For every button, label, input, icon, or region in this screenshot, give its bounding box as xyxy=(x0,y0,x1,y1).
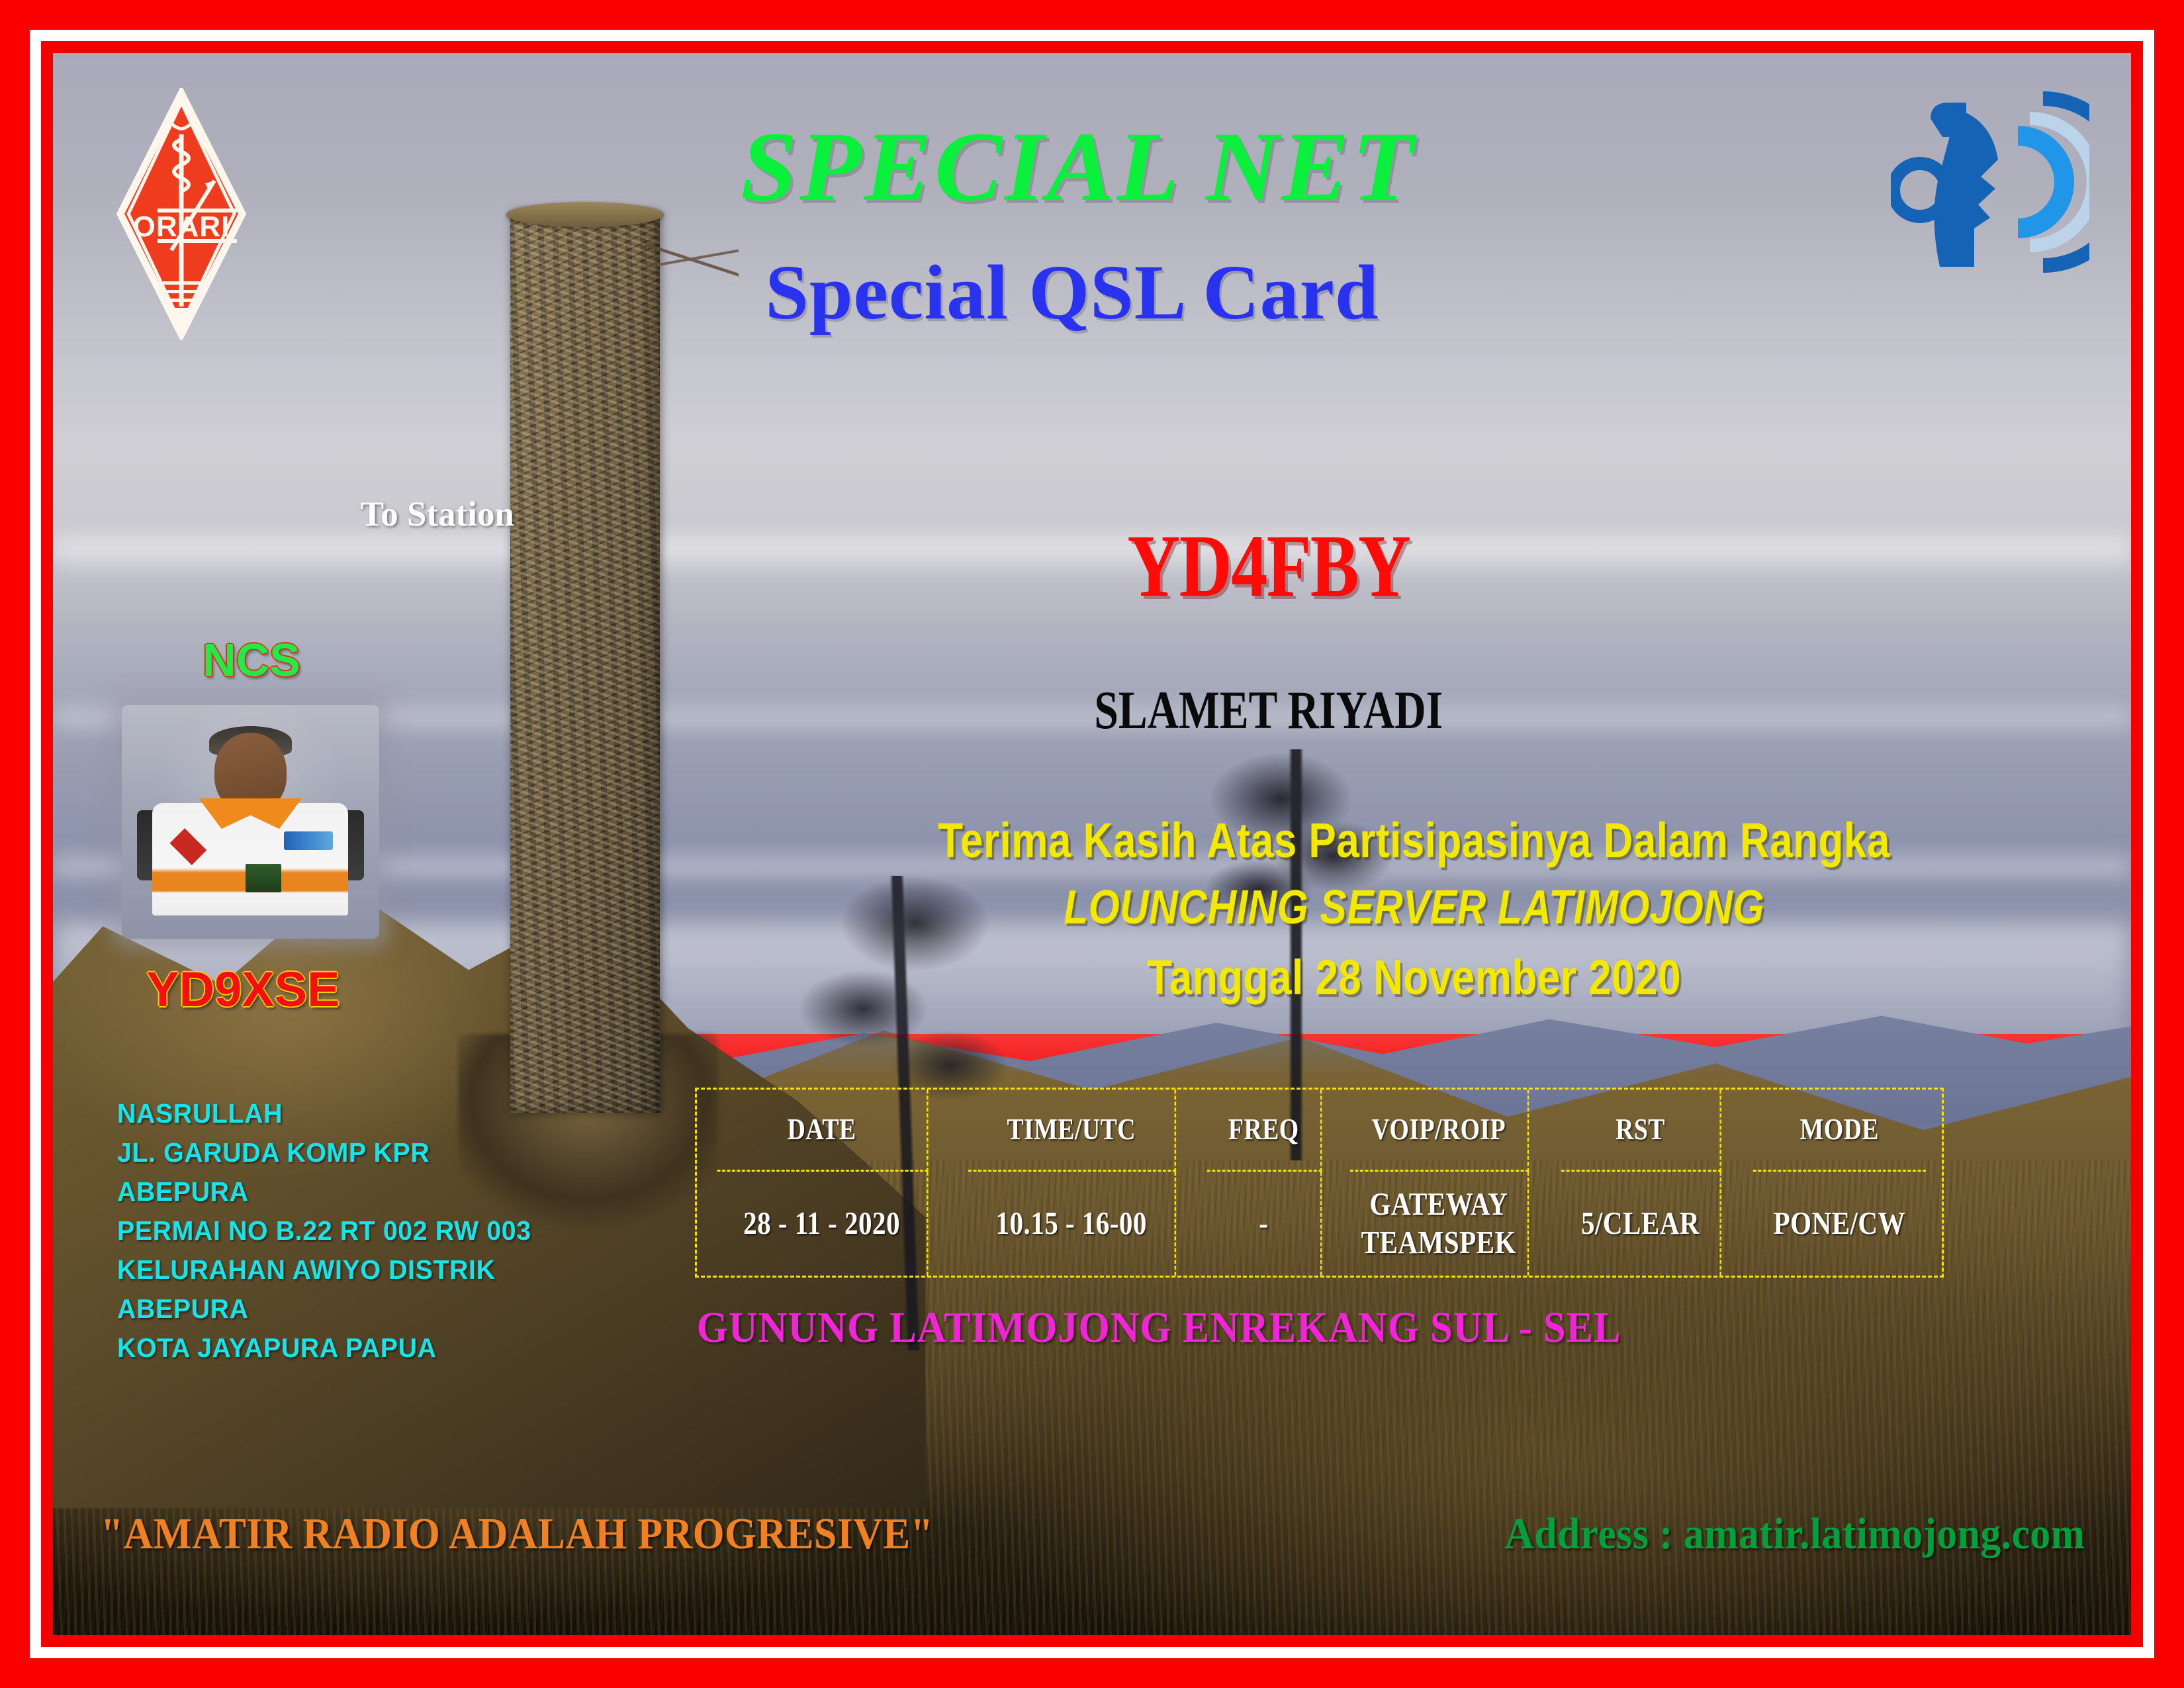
operator-name: SLAMET RIYADI xyxy=(986,679,1551,741)
card-photo-area: ORARI SPECIAL NET xyxy=(53,53,2131,1635)
table-header-mode: MODE xyxy=(1753,1090,1926,1172)
table-header-date: DATE xyxy=(717,1090,929,1172)
thanks-line-1: Terima Kasih Atas Partisipasinya Dalam R… xyxy=(846,812,1981,868)
recipient-callsign: YD4FBY xyxy=(979,515,1558,618)
qso-log-table: DATE TIME/UTC FREQ VOIP/ROIP RST MODE 28… xyxy=(695,1088,1944,1278)
to-station-label: To Station xyxy=(361,494,514,534)
ncs-callsign: YD9XSE xyxy=(146,961,340,1017)
page-subtitle: Special QSL Card xyxy=(53,248,2131,338)
photo-uniform-shirt xyxy=(152,803,348,915)
table-cell-freq: - xyxy=(1206,1172,1322,1276)
address-line: JL. GARUDA KOMP KPR xyxy=(117,1133,531,1172)
location-label: GUNUNG LATIMOJONG ENREKANG SUL - SEL xyxy=(136,1303,2048,1353)
page-title: SPECIAL NET xyxy=(53,110,2131,224)
table-cell-time: 10.15 - 16-00 xyxy=(968,1172,1176,1276)
ncs-operator-photo xyxy=(122,705,379,939)
ncs-label: NCS xyxy=(203,633,300,686)
table-cell-voip-roip: GATEWAY TEAMSPEK xyxy=(1350,1172,1529,1276)
footer-slogan: "AMATIR RADIO ADALAH PROGRESIVE" xyxy=(101,1509,933,1560)
table-header-freq: FREQ xyxy=(1206,1090,1322,1172)
footer-web-address: Address : amatir.latimojong.com xyxy=(1505,1509,2085,1560)
address-line: NASRULLAH xyxy=(117,1094,531,1133)
photo-club-patch xyxy=(284,831,333,850)
address-line: KELURAHAN AWIYO DISTRIK xyxy=(117,1250,531,1289)
address-line: ABEPURA xyxy=(117,1172,531,1211)
photo-id-card xyxy=(246,864,282,892)
thanks-line-2: LOUNCHING SERVER LATIMOJONG xyxy=(846,880,1981,935)
address-line: PERMAI NO B.22 RT 002 RW 003 xyxy=(117,1211,531,1250)
table-cell-rst: 5/CLEAR xyxy=(1561,1172,1721,1276)
table-header-time: TIME/UTC xyxy=(968,1090,1176,1172)
qsl-card-outer-frame: ORARI SPECIAL NET xyxy=(0,0,2184,1688)
table-header-voip-roip: VOIP/ROIP xyxy=(1350,1090,1529,1172)
card-content-overlay: ORARI SPECIAL NET xyxy=(53,53,2131,1635)
table-header-rst: RST xyxy=(1561,1090,1721,1172)
thanks-line-3: Tanggal 28 November 2020 xyxy=(846,949,1981,1006)
thanks-block: Terima Kasih Atas Partisipasinya Dalam R… xyxy=(739,812,2089,1006)
table-cell-mode: PONE/CW xyxy=(1753,1172,1926,1276)
table-cell-date: 28 - 11 - 2020 xyxy=(717,1172,929,1276)
